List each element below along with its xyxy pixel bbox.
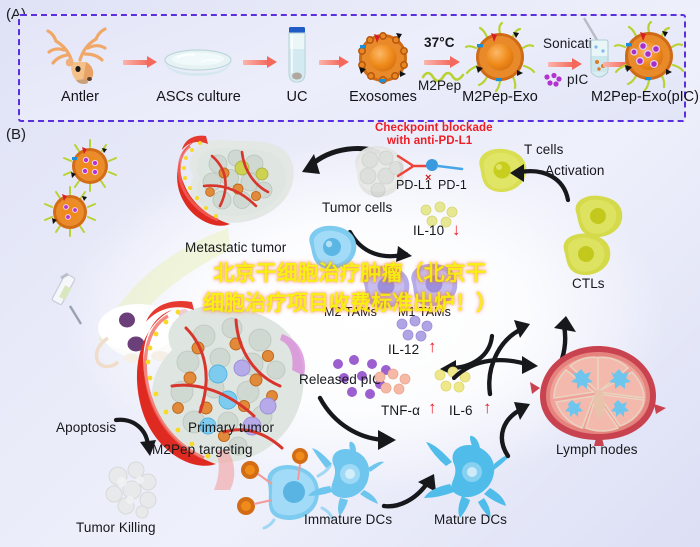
ctl-cell-2 (556, 230, 616, 280)
pd-1-label: PD-1 (438, 178, 467, 192)
antler-illustration (42, 24, 116, 86)
checkpoint-blockade-label-line1: Checkpoint blockade (375, 122, 493, 134)
lymph-nodes-label: Lymph nodes (556, 442, 638, 457)
pd-l1-label: PD-L1 (396, 178, 432, 192)
tumor-killing-label: Tumor Killing (76, 520, 156, 535)
panel-a: Antler ASCs culture (18, 14, 686, 122)
stage-label-uc: UC (268, 89, 326, 105)
il-6-label: IL-6 (449, 403, 473, 418)
arrow-antler-to-culture (123, 58, 157, 67)
tnf-alpha-cytokine-dots (372, 370, 416, 398)
figure-canvas: (A) (0, 0, 700, 547)
il-6-trend-arrow: ↑ (483, 398, 492, 418)
metastatic-tumor-illustration (172, 134, 304, 246)
il-12-label: IL-12 (388, 342, 419, 357)
arrow-exosome-to-m2pep-exo (424, 58, 460, 67)
ctls-label: CTLs (572, 276, 605, 291)
arrow-apoptosis (114, 412, 164, 460)
immature-dcs-label: Immature DCs (304, 512, 392, 527)
pic-cluster-icon (543, 72, 563, 88)
m1-tam-cell-2 (404, 258, 462, 312)
stage-label-ascs-culture: ASCs culture (151, 89, 246, 105)
m2pep-exo-particle (463, 22, 537, 92)
m2pep-exo-pic-particle (612, 21, 686, 91)
stage-label-exosomes: Exosomes (343, 89, 423, 105)
tumor-cells-label: Tumor cells (322, 200, 392, 215)
activation-label: Activation (545, 163, 605, 178)
stage-label-antler: Antler (34, 89, 126, 105)
tnf-alpha-trend-arrow: ↑ (428, 398, 437, 418)
released-pic-label: Released pIC (299, 372, 382, 387)
tumor-killing-illustration (96, 456, 168, 518)
exosome-particle (352, 30, 414, 86)
ultracentrifuge-tube (284, 27, 310, 85)
tnf-alpha-label: TNF-α (381, 403, 420, 418)
stage-label-m2pep-exo: M2Pep-Exo (445, 89, 555, 105)
panel-b: Metastatic tumor Tumor cells Checkpoint … (0, 120, 700, 547)
arrow-uc-to-exosomes (319, 58, 349, 67)
m2-tam-cell (300, 220, 362, 276)
lymph-nodes-illustration (536, 342, 660, 446)
arrow-sonication (548, 60, 582, 69)
ascs-culture-dish (161, 46, 235, 80)
injected-exosome-1 (62, 138, 118, 192)
immature-dc-illustration (306, 442, 384, 516)
t-cells-label: T cells (524, 142, 563, 157)
apoptosis-label: Apoptosis (56, 420, 116, 435)
temperature-label: 37°C (424, 35, 455, 50)
il-10-trend-arrow: ↓ (452, 220, 461, 240)
stage-label-m2pep-exo-pic: M2Pep-Exo(pIC) (565, 89, 700, 105)
arrow-culture-to-uc (243, 58, 277, 67)
metastatic-tumor-label: Metastatic tumor (185, 240, 286, 255)
mature-dcs-label: Mature DCs (434, 512, 507, 527)
arrow-lymph-to-cytokines (452, 352, 540, 388)
primary-tumor-label: Primary tumor (188, 420, 274, 435)
checkpoint-blockade-label-line2: with anti-PD-L1 (387, 135, 472, 147)
